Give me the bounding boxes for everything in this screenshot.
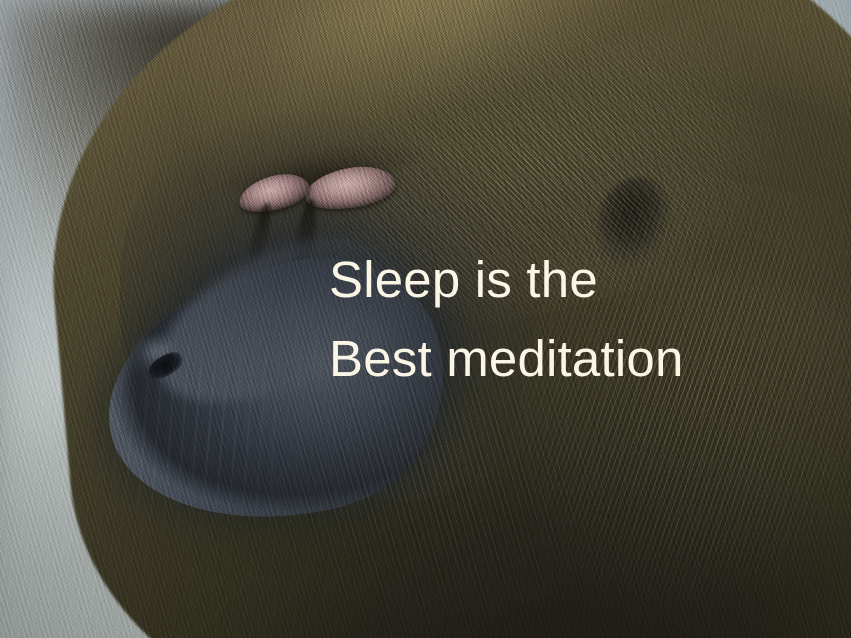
quote-line-1: Sleep is the <box>329 240 829 319</box>
quote-line-2: Best meditation <box>329 319 829 398</box>
quote-poster: Sleep is the Best meditation <box>0 0 851 638</box>
quote-text: Sleep is the Best meditation <box>329 240 829 398</box>
